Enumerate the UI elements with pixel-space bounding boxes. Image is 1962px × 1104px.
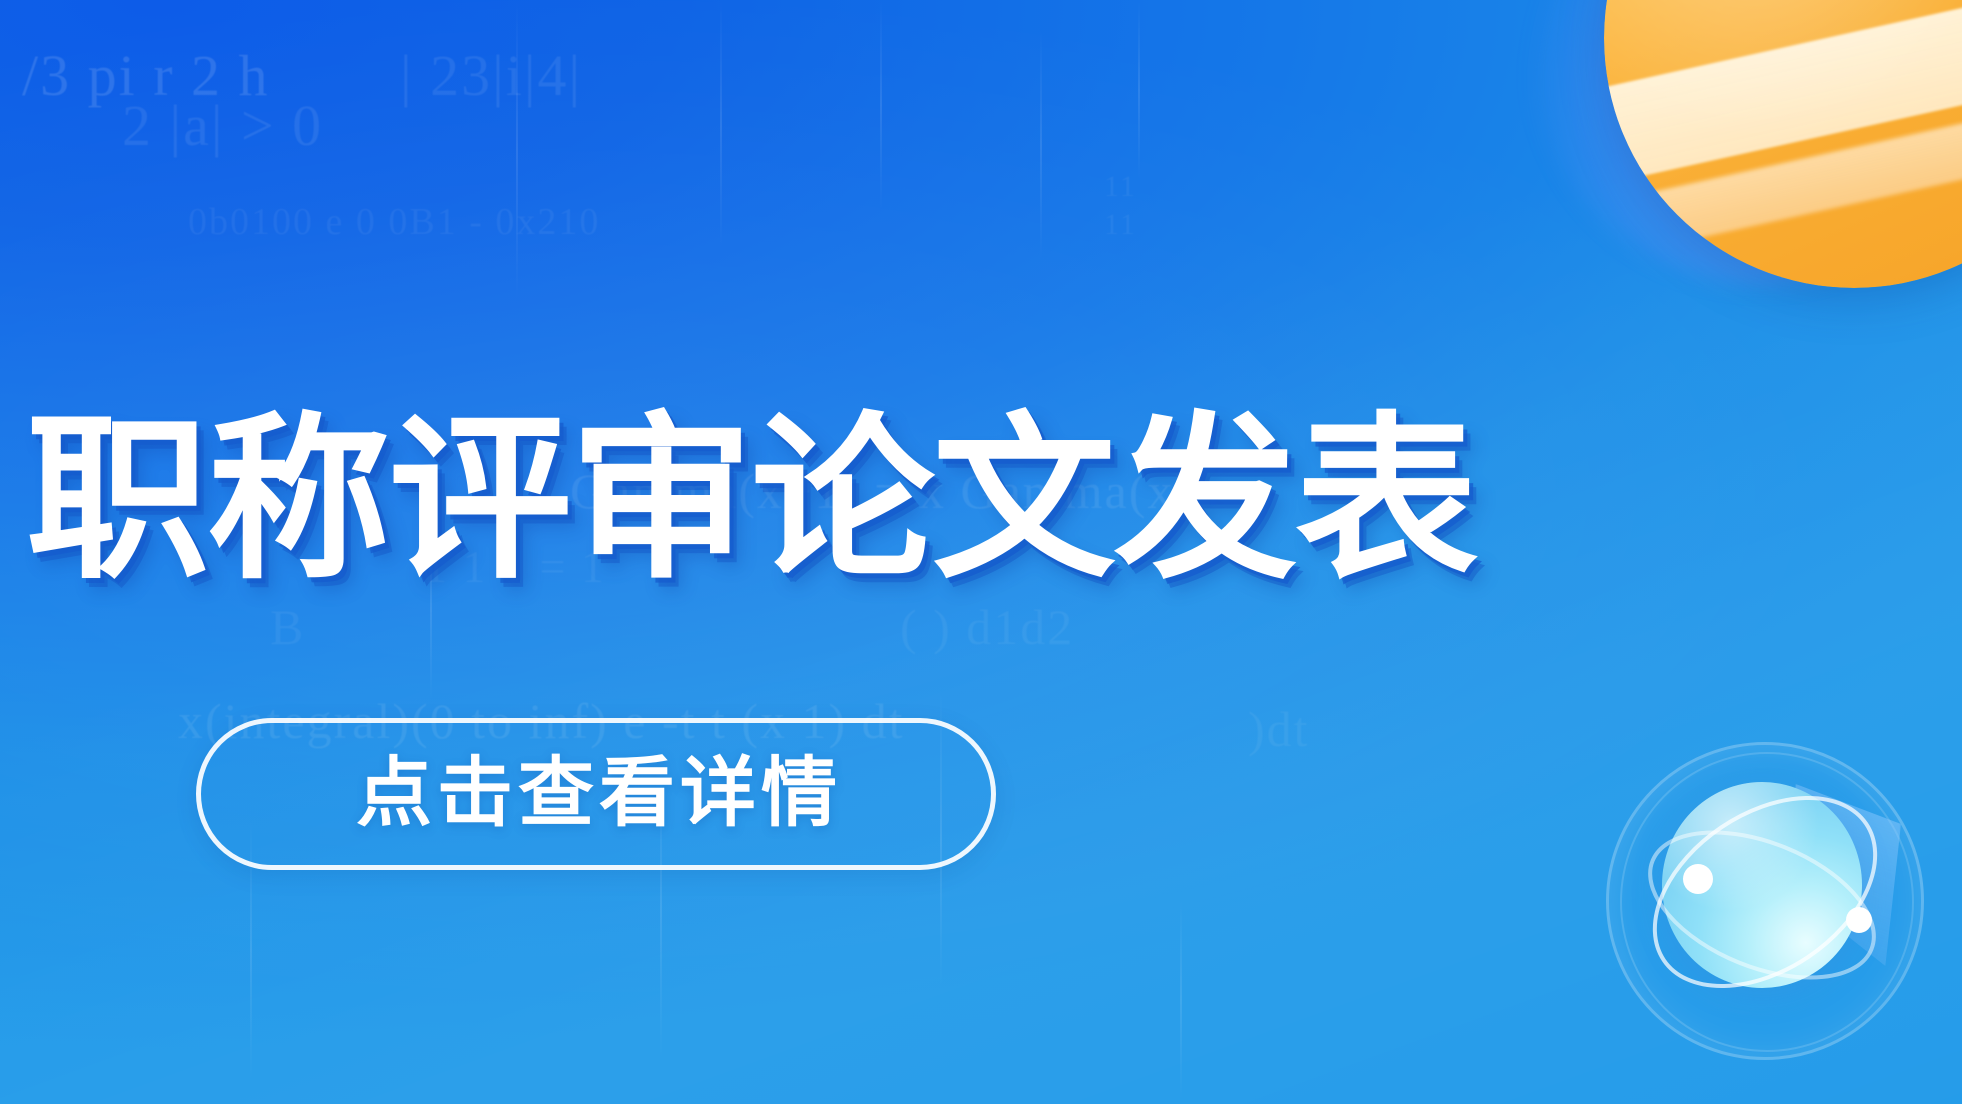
watermark-formula: )dt: [1248, 700, 1310, 758]
atom-globe-icon: [1606, 742, 1924, 1060]
background-streak: [880, 0, 882, 210]
background-streak: [516, 0, 518, 300]
watermark-formula: B: [270, 598, 305, 656]
background-streak: [720, 0, 722, 250]
view-details-button-label: 点击查看详情: [350, 756, 842, 832]
watermark-formula: | 23|i|4|: [400, 42, 582, 109]
saturn-planet-icon: [1604, 0, 1962, 288]
atom-orbit-paths: [1606, 742, 1924, 1060]
background-streak: [1138, 0, 1140, 180]
background-streak: [1180, 900, 1182, 1100]
electron-dot-icon: [1846, 907, 1872, 933]
background-streak: [1040, 30, 1042, 260]
page-title: 职称评审论文发表: [26, 411, 1489, 589]
watermark-formula: 11: [1104, 208, 1137, 242]
watermark-formula: /3 pi r 2 h: [22, 42, 270, 109]
electron-dot-icon: [1683, 864, 1713, 894]
view-details-button[interactable]: 点击查看详情: [196, 718, 996, 870]
promo-banner: /3 pi r 2 h | 23|i|4| 2 |a| > 0 0b0100 e…: [0, 0, 1962, 1104]
watermark-formula: ( ) d1d2: [900, 598, 1074, 656]
watermark-formula: 0b0100 e 0 0B1 - 0x210: [188, 200, 600, 244]
watermark-formula: 11: [1104, 170, 1137, 204]
watermark-formula: 2 |a| > 0: [122, 92, 323, 159]
